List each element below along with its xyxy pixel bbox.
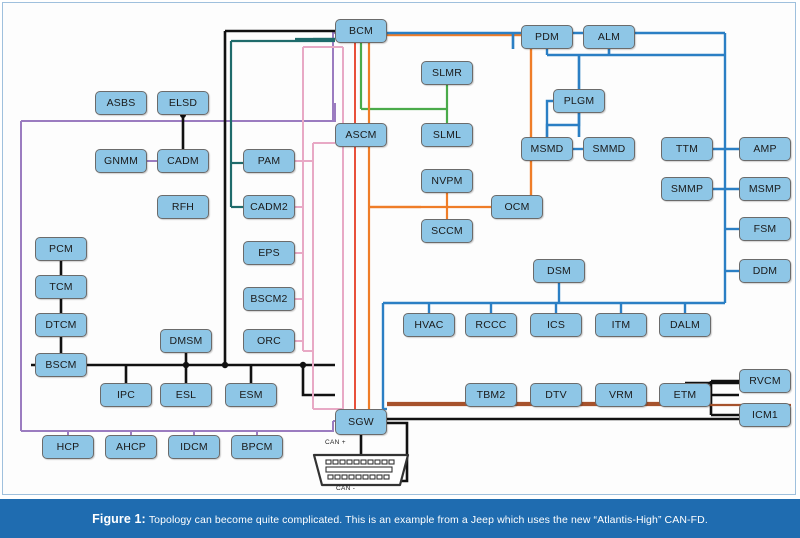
bus-wiring	[3, 3, 797, 496]
node-tcm[interactable]: TCM	[35, 275, 87, 299]
node-smmp[interactable]: SMMP	[661, 177, 713, 201]
junction-dot	[183, 362, 189, 368]
node-esm[interactable]: ESM	[225, 383, 277, 407]
node-ddm[interactable]: DDM	[739, 259, 791, 283]
node-nvpm[interactable]: NVPM	[421, 169, 473, 193]
node-dalm[interactable]: DALM	[659, 313, 711, 337]
node-dsm[interactable]: DSM	[533, 259, 585, 283]
node-bcm[interactable]: BCM	[335, 19, 387, 43]
node-pcm[interactable]: PCM	[35, 237, 87, 261]
node-pam[interactable]: PAM	[243, 149, 295, 173]
figure-caption-text: Topology can become quite complicated. T…	[149, 514, 708, 526]
node-ascm[interactable]: ASCM	[335, 123, 387, 147]
node-cadm2[interactable]: CADM2	[243, 195, 295, 219]
node-dmsm[interactable]: DMSM	[160, 329, 212, 353]
node-smmd[interactable]: SMMD	[583, 137, 635, 161]
node-msmd[interactable]: MSMD	[521, 137, 573, 161]
node-etm[interactable]: ETM	[659, 383, 711, 407]
node-ttm[interactable]: TTM	[661, 137, 713, 161]
node-plgm[interactable]: PLGM	[553, 89, 605, 113]
junction-dot	[222, 362, 228, 368]
figure-container: ASBSELSDGNMMCADMRFHPCMTCMDTCMBSCMIPCDMSM…	[0, 0, 800, 538]
node-slmr[interactable]: SLMR	[421, 61, 473, 85]
node-icm1[interactable]: ICM1	[739, 403, 791, 427]
node-rccc[interactable]: RCCC	[465, 313, 517, 337]
node-dtv[interactable]: DTV	[530, 383, 582, 407]
node-tbm2[interactable]: TBM2	[465, 383, 517, 407]
node-slml[interactable]: SLML	[421, 123, 473, 147]
node-eps[interactable]: EPS	[243, 241, 295, 265]
node-idcm[interactable]: IDCM	[168, 435, 220, 459]
node-fsm[interactable]: FSM	[739, 217, 791, 241]
node-elsd[interactable]: ELSD	[157, 91, 209, 115]
node-vrm[interactable]: VRM	[595, 383, 647, 407]
node-pdm[interactable]: PDM	[521, 25, 573, 49]
figure-caption-bar: Figure 1:Topology can become quite compl…	[0, 499, 800, 538]
junction-dot	[300, 362, 306, 368]
diagram-frame: ASBSELSDGNMMCADMRFHPCMTCMDTCMBSCMIPCDMSM…	[2, 2, 796, 495]
node-alm[interactable]: ALM	[583, 25, 635, 49]
node-rvcm[interactable]: RVCM	[739, 369, 791, 393]
bus-teal	[231, 39, 335, 207]
can-low-label: CAN -	[336, 485, 355, 492]
node-sccm[interactable]: SCCM	[421, 219, 473, 243]
node-ipc[interactable]: IPC	[100, 383, 152, 407]
node-bpcm[interactable]: BPCM	[231, 435, 283, 459]
bus-pink	[295, 47, 343, 409]
node-asbs[interactable]: ASBS	[95, 91, 147, 115]
node-ics[interactable]: ICS	[530, 313, 582, 337]
node-amp[interactable]: AMP	[739, 137, 791, 161]
node-itm[interactable]: ITM	[595, 313, 647, 337]
figure-number: Figure 1:	[92, 512, 146, 526]
node-esl[interactable]: ESL	[160, 383, 212, 407]
node-gnmm[interactable]: GNMM	[95, 149, 147, 173]
node-msmp[interactable]: MSMP	[739, 177, 791, 201]
node-cadm[interactable]: CADM	[157, 149, 209, 173]
node-orc[interactable]: ORC	[243, 329, 295, 353]
node-ahcp[interactable]: AHCP	[105, 435, 157, 459]
can-high-label: CAN +	[325, 439, 346, 446]
obd-ii-connector[interactable]	[306, 449, 416, 491]
node-ocm[interactable]: OCM	[491, 195, 543, 219]
node-rfh[interactable]: RFH	[157, 195, 209, 219]
node-hvac[interactable]: HVAC	[403, 313, 455, 337]
node-sgw[interactable]: SGW	[335, 409, 387, 435]
node-hcp[interactable]: HCP	[42, 435, 94, 459]
node-bscm[interactable]: BSCM	[35, 353, 87, 377]
node-dtcm[interactable]: DTCM	[35, 313, 87, 337]
node-bscm2[interactable]: BSCM2	[243, 287, 295, 311]
